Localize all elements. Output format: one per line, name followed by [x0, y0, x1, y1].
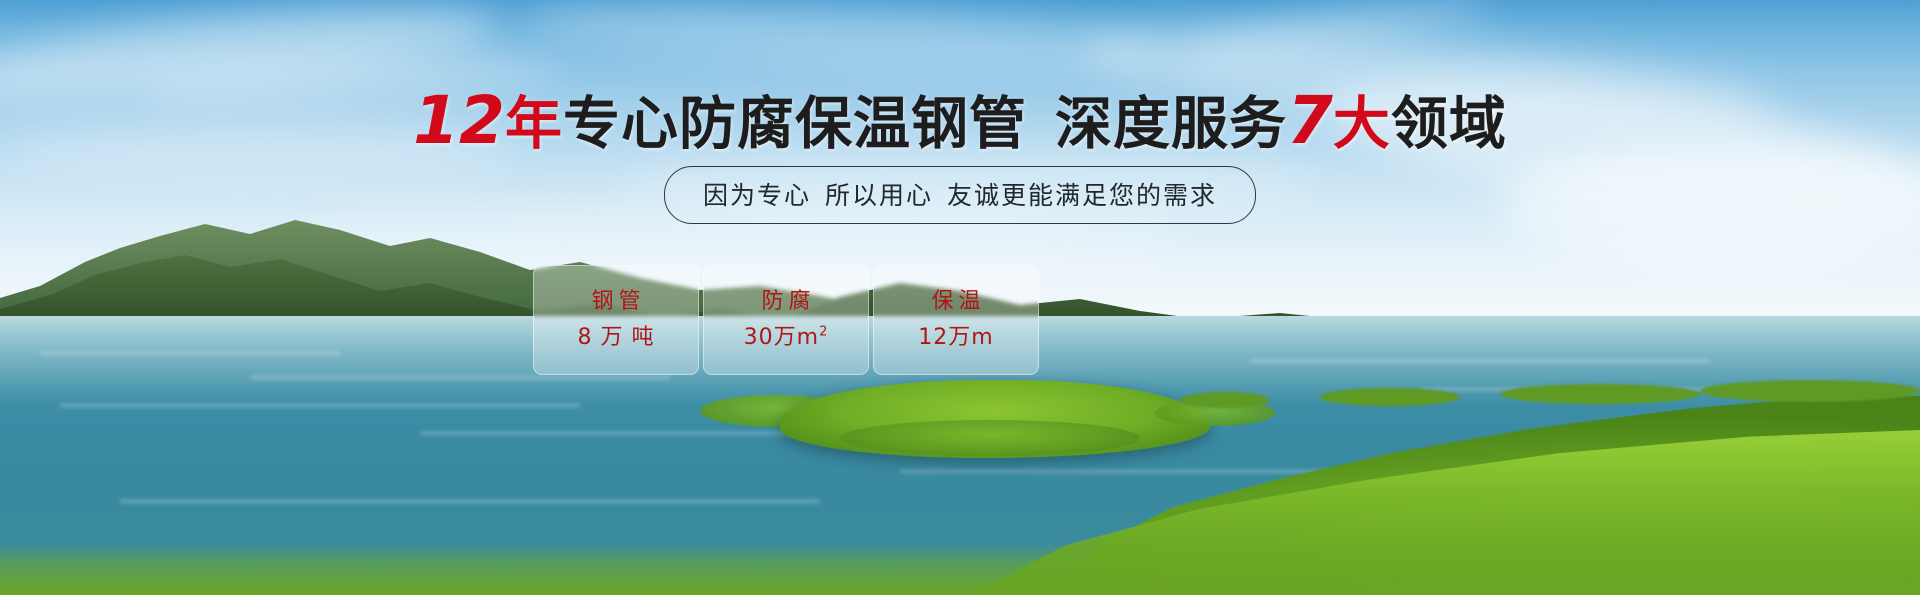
headline-highlight-number: 7	[1287, 82, 1333, 159]
stat-card-steel-pipe: 钢管 8 万 吨	[533, 265, 699, 375]
stat-card-value: 30万m2	[744, 327, 829, 349]
stat-card-value-text: 30万m	[744, 325, 819, 350]
headline-years-number: 12	[413, 82, 505, 159]
banner-content: 12年专心防腐保温钢管深度服务7大领域 因为专心所以用心友诚更能满足您的需求 钢…	[0, 0, 1920, 595]
promo-banner: 12年专心防腐保温钢管深度服务7大领域 因为专心所以用心友诚更能满足您的需求 钢…	[0, 0, 1920, 595]
stat-card-anticorrosion: 防腐 30万m2	[703, 265, 869, 375]
stat-card-value-text: 8 万 吨	[578, 325, 655, 350]
stat-card-value: 8 万 吨	[578, 327, 655, 349]
subtitle-part-2: 所以用心	[825, 181, 933, 210]
headline-highlight-unit: 大	[1333, 91, 1391, 157]
stat-card-label: 钢管	[586, 291, 645, 313]
subtitle-part-1: 因为专心	[703, 181, 811, 210]
subtitle-container: 因为专心所以用心友诚更能满足您的需求	[0, 166, 1920, 224]
stat-card-value-text: 12万m	[918, 325, 993, 350]
stat-cards: 钢管 8 万 吨 防腐 30万m2 保温 12万m	[533, 265, 1039, 375]
stat-card-value: 12万m	[918, 327, 993, 349]
stat-card-value-superscript: 2	[819, 325, 828, 340]
page-title: 12年专心防腐保温钢管深度服务7大领域	[0, 88, 1920, 154]
headline-segment-3: 领域	[1391, 91, 1507, 157]
subtitle-part-3: 友诚更能满足您的需求	[947, 181, 1217, 210]
headline-years-unit: 年	[505, 91, 563, 157]
stat-card-label: 防腐	[756, 291, 815, 313]
subtitle-pill: 因为专心所以用心友诚更能满足您的需求	[664, 166, 1256, 224]
stat-card-label: 保温	[926, 291, 985, 313]
headline-segment-1: 专心防腐保温钢管	[563, 91, 1027, 157]
stat-card-insulation: 保温 12万m	[873, 265, 1039, 375]
headline-segment-2: 深度服务	[1055, 91, 1287, 157]
